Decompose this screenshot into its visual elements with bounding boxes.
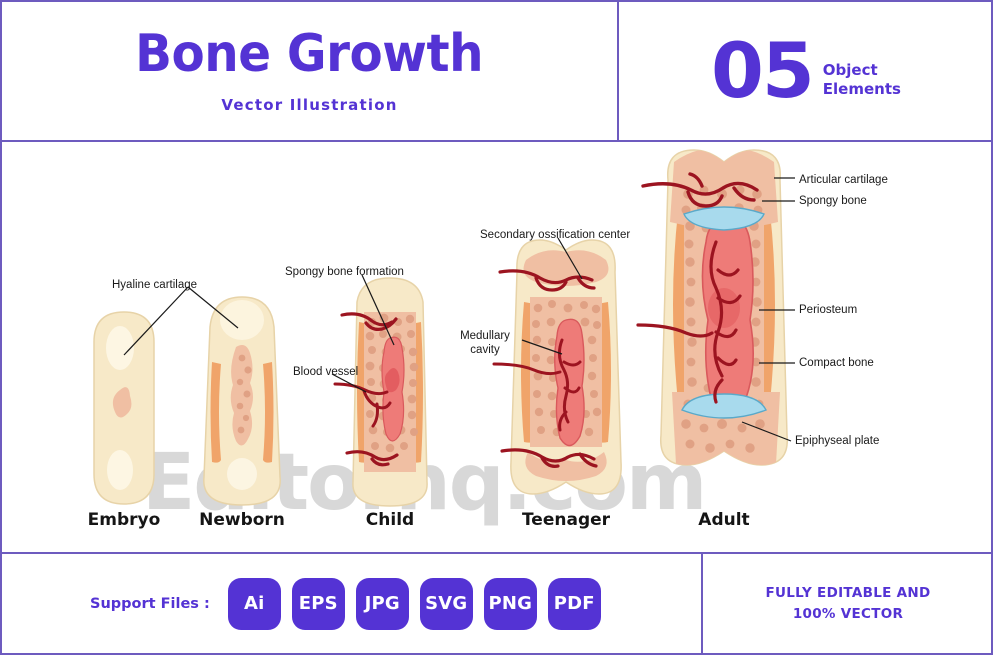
newborn-trabecula	[237, 379, 243, 385]
newborn-trabecula	[244, 391, 251, 398]
newborn-trabecula	[244, 366, 251, 373]
file-badge-png[interactable]: PNG	[484, 578, 537, 630]
vector-note-line2: 100% VECTOR	[766, 604, 931, 624]
stage-label-child: Child	[366, 510, 414, 530]
newborn-trabecula	[239, 355, 246, 362]
object-count-block: 05 Object Elements	[621, 2, 991, 140]
stage-label-newborn: Newborn	[199, 510, 285, 530]
object-count-caption-line1: Object	[823, 61, 901, 80]
adult-marrow-core	[708, 288, 740, 328]
support-files-block: Support Files : Ai EPS JPG SVG PNG PDF	[2, 554, 703, 653]
annotation-compact-bone: Compact bone	[799, 357, 874, 371]
stage-label-adult: Adult	[698, 510, 749, 530]
annotation-epiphyseal-plate: Epiphyseal plate	[795, 435, 879, 449]
newborn-highlight-bottom	[227, 458, 257, 490]
annotation-periosteum: Periosteum	[799, 304, 857, 318]
infographic-page: Bone Growth Vector Illustration 05 Objec…	[0, 0, 993, 655]
header-title-block: Bone Growth Vector Illustration	[2, 2, 619, 140]
newborn-trabecula	[243, 415, 249, 421]
newborn-trabecula	[238, 427, 245, 434]
file-badge-svg[interactable]: SVG	[420, 578, 473, 630]
stage-label-embryo: Embryo	[88, 510, 161, 530]
vector-note-block: FULLY EDITABLE AND 100% VECTOR	[705, 554, 991, 653]
footer-bar: Support Files : Ai EPS JPG SVG PNG PDF F…	[2, 554, 991, 653]
annotation-secondary-ossification-center: Secondary ossification center	[480, 229, 630, 243]
illustration-panel: Editorhq.com	[2, 142, 991, 554]
annotation-articular-cartilage: Articular cartilage	[799, 174, 888, 188]
file-badge-pdf[interactable]: PDF	[548, 578, 601, 630]
annotation-spongy-bone: Spongy bone	[799, 195, 867, 209]
embryo-highlight-bottom	[107, 450, 133, 490]
vector-note: FULLY EDITABLE AND 100% VECTOR	[766, 583, 931, 624]
object-count-caption: Object Elements	[823, 43, 901, 99]
object-count-caption-line2: Elements	[823, 80, 901, 99]
object-count-number: 05	[711, 39, 813, 104]
file-badge-ai[interactable]: Ai	[228, 578, 281, 630]
newborn-trabecula	[237, 403, 244, 410]
page-title: Bone Growth	[135, 28, 483, 80]
bone-child	[335, 278, 427, 506]
header-bar: Bone Growth Vector Illustration 05 Objec…	[2, 2, 991, 142]
vector-note-line1: FULLY EDITABLE AND	[766, 583, 931, 603]
file-format-badges: Ai EPS JPG SVG PNG PDF	[228, 578, 601, 630]
bone-embryo	[94, 312, 154, 504]
file-badge-jpg[interactable]: JPG	[356, 578, 409, 630]
annotation-spongy-bone-formation: Spongy bone formation	[285, 266, 404, 280]
stage-label-teenager: Teenager	[522, 510, 610, 530]
annotation-medullary-cavity: Medullary cavity	[452, 330, 518, 357]
annotation-blood-vessel: Blood vessel	[293, 366, 358, 380]
annotation-hyaline-cartilage: Hyaline cartilage	[112, 279, 197, 293]
support-files-label: Support Files :	[90, 596, 210, 612]
bone-teenager	[494, 240, 621, 494]
page-subtitle: Vector Illustration	[221, 96, 397, 114]
newborn-highlight-top	[220, 300, 264, 340]
file-badge-eps[interactable]: EPS	[292, 578, 345, 630]
bone-newborn	[204, 297, 280, 505]
